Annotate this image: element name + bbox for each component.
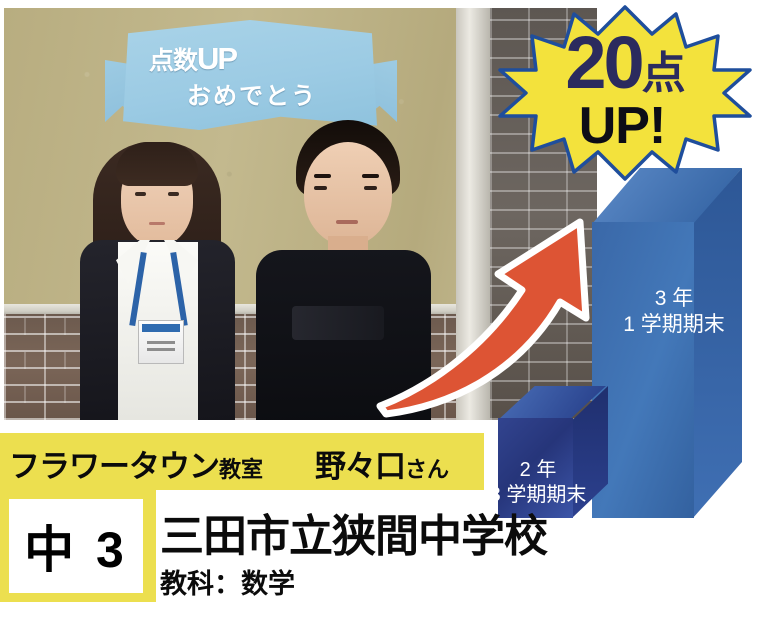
- badge-text-block: 20点 UP!: [492, 4, 758, 182]
- right-figure-eye-left: [314, 186, 327, 190]
- grade-text: 中 3: [24, 510, 128, 582]
- bar-tall-side-face: [693, 168, 742, 518]
- bar-tall-label: 3 年 1 学期期末: [599, 286, 749, 339]
- badge-points-unit: 点: [642, 49, 685, 98]
- banner-line-1: 点数UP: [149, 41, 349, 77]
- left-figure-eye-left: [135, 192, 146, 196]
- left-figure-fringe: [116, 142, 198, 186]
- banner-points-text: 点数: [149, 47, 197, 75]
- bar-tall-label-line1: 3 年: [599, 286, 749, 312]
- student-name: 野々口: [315, 449, 405, 484]
- growth-arrow-icon: [372, 178, 612, 418]
- school-name: 三田市立狭間中学校: [160, 500, 547, 564]
- left-figure-id-card: [138, 320, 184, 364]
- right-figure-shirt-print: [292, 306, 384, 340]
- bar-tall-label-line2: 1 学期期末: [599, 312, 749, 338]
- student-label: 野々口さん: [315, 441, 449, 486]
- points-up-badge: 20点 UP!: [492, 4, 758, 182]
- right-figure-mouth: [336, 220, 358, 224]
- caption-bar: フラワータウン教室 野々口さん: [0, 433, 484, 490]
- badge-points: 20点: [520, 26, 730, 100]
- grade-badge-inner: 中 3: [9, 499, 143, 593]
- left-figure-eye-right: [168, 192, 179, 196]
- result-card: 点数UP おめでとう: [0, 0, 760, 620]
- student-left-figure: [80, 134, 235, 420]
- subject-label: 教科：数学: [160, 562, 295, 601]
- banner-up-text: UP: [197, 41, 236, 76]
- student-name-suffix: さん: [405, 457, 449, 482]
- left-figure-mouth: [149, 222, 165, 225]
- badge-points-number: 20: [565, 21, 641, 104]
- bar-short-label-line1: 2 年: [482, 458, 594, 483]
- classroom-suffix: 教室: [219, 457, 263, 482]
- classroom-name: フラワータウン: [9, 449, 219, 484]
- grade-badge: 中 3: [0, 490, 156, 602]
- classroom-label: フラワータウン教室: [9, 441, 263, 486]
- badge-up-label: UP!: [522, 100, 722, 152]
- banner-line-2: おめでとう: [187, 76, 387, 111]
- right-figure-brow-left: [314, 174, 331, 178]
